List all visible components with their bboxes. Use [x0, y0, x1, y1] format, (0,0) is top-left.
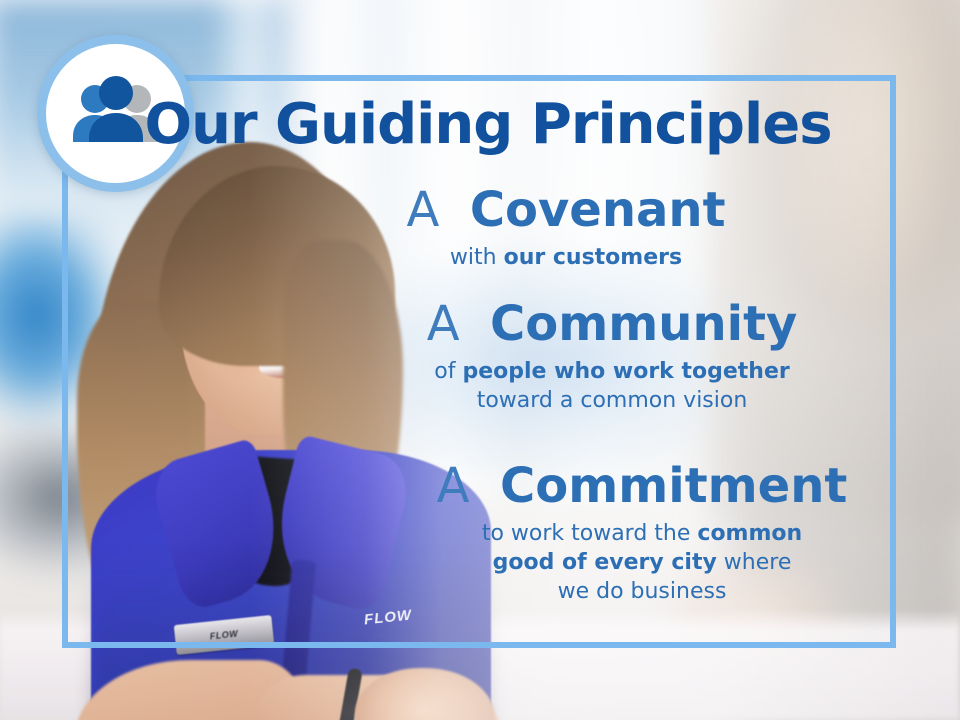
associate-portrait: FLOW FLOW [55, 120, 525, 720]
badge-circle [37, 35, 194, 192]
people-group-icon [64, 76, 168, 152]
chest-logo-text: FLOW [363, 606, 413, 628]
name-badge-text: FLOW [209, 629, 238, 642]
poster-canvas: FLOW FLOW [0, 0, 960, 720]
